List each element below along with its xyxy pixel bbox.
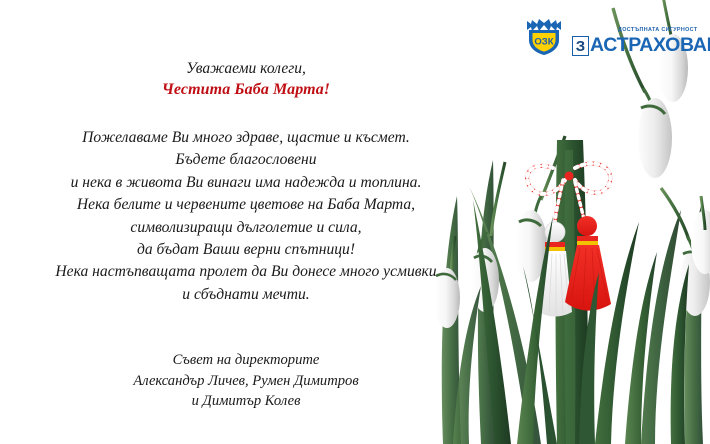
wish-line: Нека белите и червените цветове на Баба … bbox=[0, 194, 492, 216]
wish-line: Пожелаваме Ви много здраве, щастие и къс… bbox=[0, 127, 492, 149]
greeting-message: Уважаеми колеги, Честита Баба Марта! Пож… bbox=[0, 58, 492, 306]
shield-letters: ОЗК bbox=[534, 37, 553, 48]
martenitsa-white-tassel bbox=[539, 222, 572, 317]
wish-line: и сбъднати мечти. bbox=[0, 284, 492, 306]
signature-line: Александър Личев, Румен Димитров bbox=[0, 371, 492, 392]
snowdrop-flower bbox=[691, 196, 710, 274]
headline-baba-marta: Честита Баба Марта! bbox=[0, 79, 492, 101]
logo-initial: З bbox=[572, 36, 589, 56]
snowdrop-flower bbox=[661, 188, 710, 316]
wish-line: Бъдете благословени bbox=[0, 149, 492, 171]
signature-line: и Димитър Колев bbox=[0, 391, 492, 412]
martenitsa-bow bbox=[527, 163, 610, 226]
logo-wordmark: АСТРАХОВАНЕ bbox=[590, 36, 710, 56]
wish-line: символизиращи дълголетие и сила, bbox=[0, 217, 492, 239]
company-logo: ОЗК ДОСТЪПНАТА СИГУРНОСТ З АСТРАХОВАНЕ bbox=[524, 12, 704, 56]
signature-line: Съвет на директорите bbox=[0, 350, 492, 371]
ozk-shield-icon: ОЗК bbox=[524, 18, 564, 56]
signature-block: Съвет на директорите Александър Личев, Р… bbox=[0, 350, 492, 412]
wish-line: и нека в живота Ви винаги има надежда и … bbox=[0, 172, 492, 194]
wish-line: да бъдат Ваши верни спътници! bbox=[0, 239, 492, 261]
greeting-card: ОЗК ДОСТЪПНАТА СИГУРНОСТ З АСТРАХОВАНЕ У… bbox=[0, 0, 710, 444]
spacer bbox=[0, 101, 492, 127]
logo-tagline: ДОСТЪПНАТА СИГУРНОСТ bbox=[618, 27, 697, 33]
central-stem bbox=[556, 140, 588, 444]
salutation-line: Уважаеми колеги, bbox=[0, 58, 492, 79]
martenitsa-red-tassel bbox=[565, 216, 611, 311]
wish-line: Нека настъпващата пролет да Ви донесе мн… bbox=[0, 261, 492, 283]
snowdrop-flower bbox=[515, 136, 565, 282]
